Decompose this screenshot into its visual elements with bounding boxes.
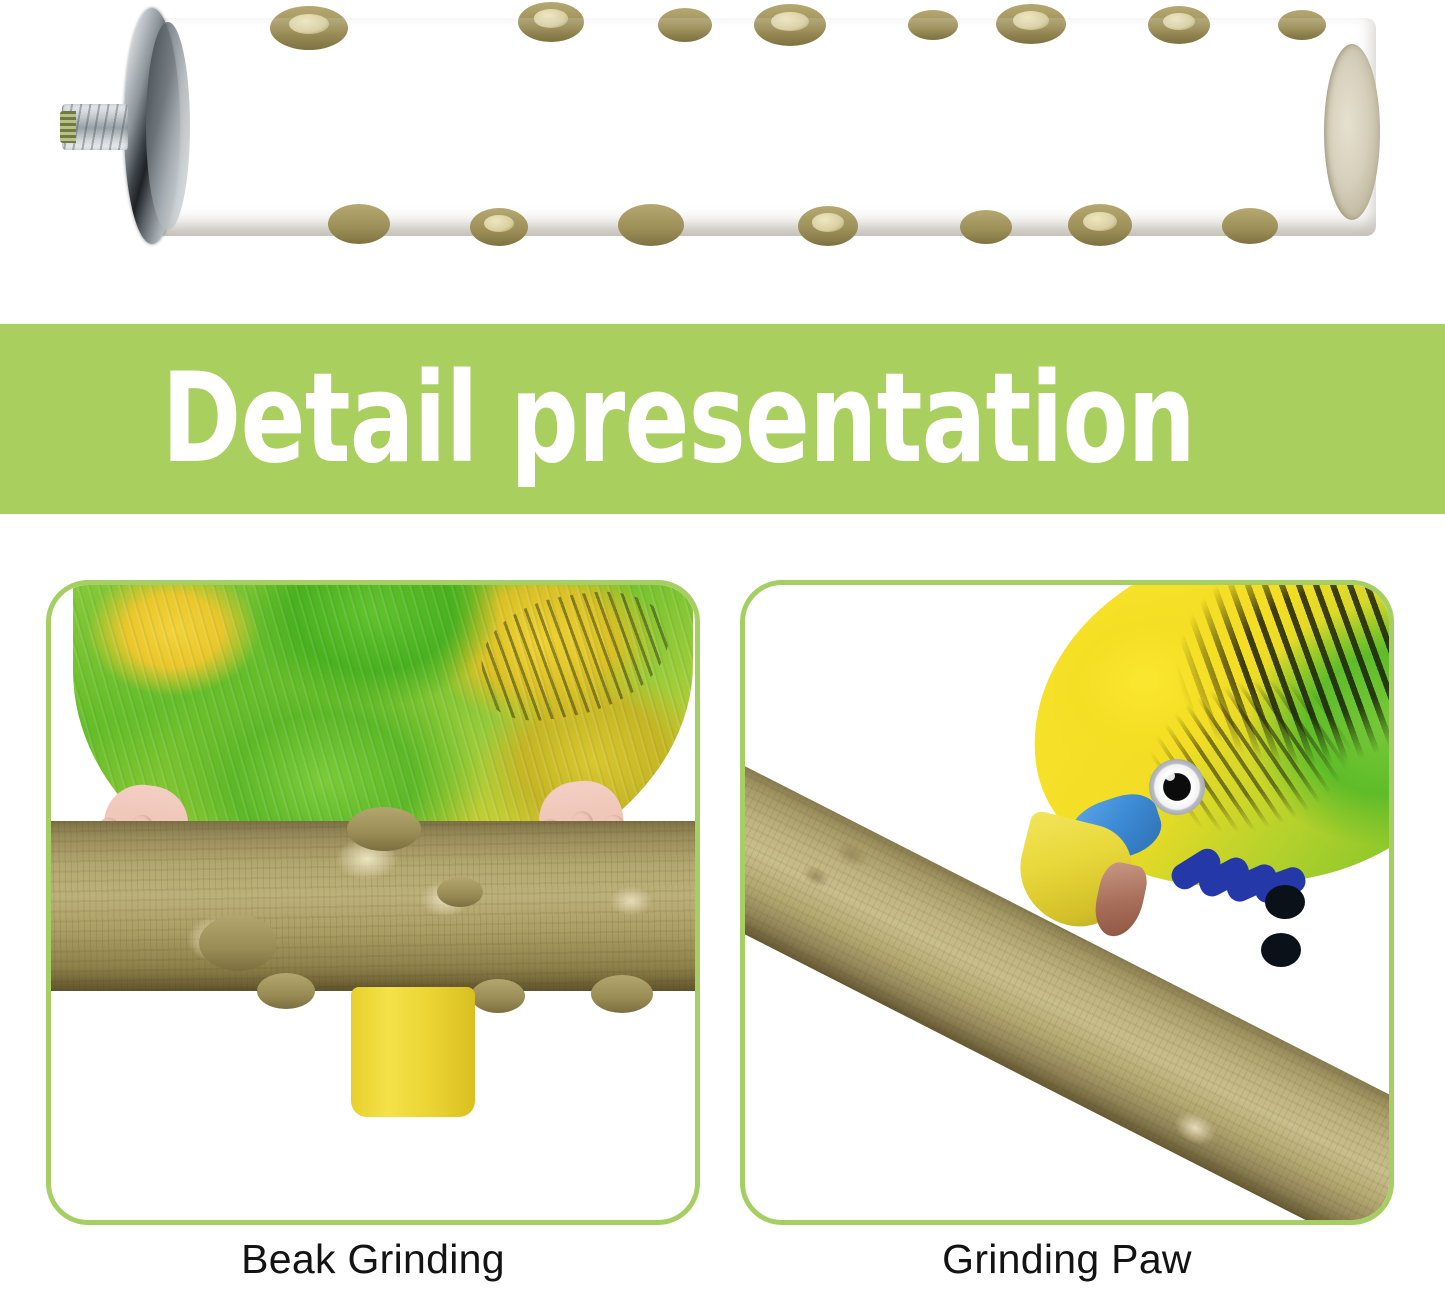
panel-grinding-paw [740,580,1394,1225]
throat-spot [1261,933,1301,967]
bark-bump [618,204,684,246]
product-infographic-page: Detail presentation [0,0,1445,1292]
bark-bump [960,210,1012,244]
branch-knot [471,979,525,1013]
bark-bump [470,208,528,246]
bark-bump [328,204,390,244]
branch-knot [257,973,315,1009]
banner-title: Detail presentation [0,357,1195,481]
detail-presentation-banner: Detail presentation [0,324,1445,514]
caption-grinding-paw: Grinding Paw [740,1236,1394,1283]
caption-beak-grinding: Beak Grinding [46,1236,700,1283]
eye-highlight [1165,771,1175,781]
detail-panels-row: Beak Grinding Grinding Paw [0,514,1445,1292]
screw-thread-tip [60,111,76,143]
bark-bump [798,206,858,246]
wood-cut-end [1324,44,1380,220]
branch-knot [437,877,483,907]
hero-product-image [0,0,1445,324]
panel-beak-grinding [46,580,700,1225]
bark-bump [1222,208,1278,244]
metal-washer-mount [124,8,180,244]
bird-tail-feathers [351,987,475,1117]
threaded-screw-bolt [62,104,128,150]
bark-bump [1068,204,1132,246]
wooden-perch-illustration [118,8,1376,244]
wood-branch-body [150,18,1376,236]
throat-spot [1265,885,1305,919]
washer-inner-ring [146,22,190,230]
branch-knot [591,975,653,1013]
branch-knot [199,915,277,971]
branch-knot [347,807,421,851]
budgie-eye [1149,759,1205,815]
